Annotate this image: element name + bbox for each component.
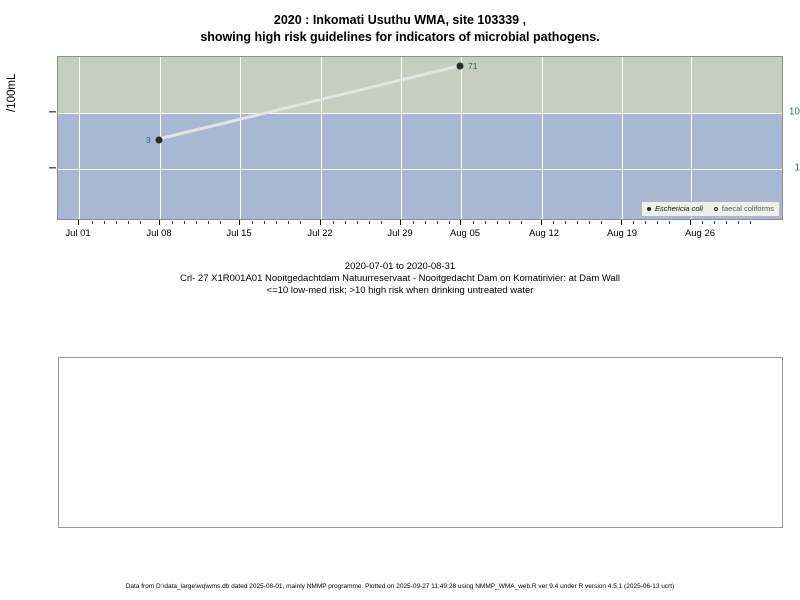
legend-item-eschericia-coli[interactable]: Eschericia coli <box>647 204 703 214</box>
x-tick-minor <box>702 221 703 224</box>
x-tick-minor <box>357 221 358 224</box>
x-tick-label: Jul 08 <box>146 228 171 239</box>
x-tick-mark <box>541 220 542 225</box>
y-tick-mark-1 <box>49 167 56 168</box>
x-tick-minor <box>369 221 370 224</box>
x-tick-minor <box>714 221 715 224</box>
x-tick-mark <box>320 220 321 225</box>
footer-provenance-text: Data from D:\data_large\wq\wms.db dated … <box>0 583 800 590</box>
caption-date-range: 2020-07-01 to 2020-08-31 <box>0 261 800 273</box>
x-tick-minor <box>577 221 578 224</box>
x-tick-mark <box>621 220 622 225</box>
title-line-1: 2020 : Inkomati Usuthu WMA, site 103339 … <box>0 12 800 29</box>
data-point[interactable] <box>457 63 464 70</box>
y-axis-label: /100mL <box>6 74 18 112</box>
x-tick-minor <box>726 221 727 224</box>
x-tick-mark <box>159 220 160 225</box>
x-tick-label: Aug 12 <box>529 228 559 239</box>
chart-caption: 2020-07-01 to 2020-08-31 Crl- 27 X1R001A… <box>0 261 800 297</box>
x-tick-minor <box>601 221 602 224</box>
x-tick-minor <box>381 221 382 224</box>
caption-site-description: Crl- 27 X1R001A01 Nooitgedachtdam Natuur… <box>0 273 800 285</box>
x-tick-label: Jul 15 <box>226 228 251 239</box>
title-line-2: showing high risk guidelines for indicat… <box>0 29 800 46</box>
x-tick-minor <box>333 221 334 224</box>
data-point-label: 3 <box>146 135 151 145</box>
x-tick-minor <box>497 221 498 224</box>
x-tick-minor <box>116 221 117 224</box>
x-tick-minor <box>553 221 554 224</box>
x-tick-minor <box>473 221 474 224</box>
x-tick-minor <box>485 221 486 224</box>
x-tick-minor <box>521 221 522 224</box>
x-tick-label: Aug 26 <box>685 228 715 239</box>
x-tick-label: Aug 19 <box>607 228 637 239</box>
plot-panel: 3 71 Eschericia coli faecal coliforms <box>57 56 783 220</box>
x-tick-minor <box>140 221 141 224</box>
legend-item-faecal-coliforms[interactable]: faecal coliforms <box>714 204 774 214</box>
x-tick-minor <box>669 221 670 224</box>
x-tick-minor <box>413 221 414 224</box>
x-tick-minor <box>300 221 301 224</box>
x-tick-minor <box>276 221 277 224</box>
x-tick-minor <box>208 221 209 224</box>
x-tick-label: Jul 29 <box>387 228 412 239</box>
x-tick-mark <box>239 220 240 225</box>
x-tick-minor <box>449 221 450 224</box>
x-tick-minor <box>738 221 739 224</box>
x-tick-minor <box>172 221 173 224</box>
page-title: 2020 : Inkomati Usuthu WMA, site 103339 … <box>0 12 800 46</box>
x-tick-mark <box>460 220 461 225</box>
x-tick-minor <box>252 221 253 224</box>
x-tick-minor <box>128 221 129 224</box>
x-tick-minor <box>196 221 197 224</box>
x-tick-label: Jul 01 <box>65 228 90 239</box>
y-tick-mark-10 <box>49 111 56 112</box>
x-tick-minor <box>264 221 265 224</box>
series-line-eschericia-coli <box>58 57 782 219</box>
x-tick-mark <box>400 220 401 225</box>
x-tick-minor <box>437 221 438 224</box>
x-tick-minor <box>633 221 634 224</box>
x-tick-minor <box>220 221 221 224</box>
data-point[interactable] <box>156 137 163 144</box>
data-point-label: 71 <box>468 61 477 71</box>
x-tick-label: Aug 05 <box>450 228 480 239</box>
x-tick-mark <box>690 220 691 225</box>
secondary-empty-panel <box>58 357 783 528</box>
x-tick-minor <box>104 221 105 224</box>
x-tick-minor <box>288 221 289 224</box>
legend-label: Eschericia coli <box>655 204 703 214</box>
x-tick-minor <box>92 221 93 224</box>
x-tick-mark <box>78 220 79 225</box>
legend-label: faecal coliforms <box>722 204 774 214</box>
x-tick-minor <box>345 221 346 224</box>
open-circle-icon <box>714 207 718 211</box>
x-tick-minor <box>645 221 646 224</box>
legend: Eschericia coli faecal coliforms <box>641 201 780 217</box>
x-tick-minor <box>509 221 510 224</box>
x-tick-label: Jul 22 <box>307 228 332 239</box>
x-tick-minor <box>184 221 185 224</box>
x-tick-minor <box>565 221 566 224</box>
filled-circle-icon <box>647 207 651 211</box>
x-tick-minor <box>657 221 658 224</box>
x-tick-minor <box>425 221 426 224</box>
caption-risk-guideline: <=10 low-med risk; >10 high risk when dr… <box>0 285 800 297</box>
x-tick-minor <box>750 221 751 224</box>
x-tick-minor <box>589 221 590 224</box>
